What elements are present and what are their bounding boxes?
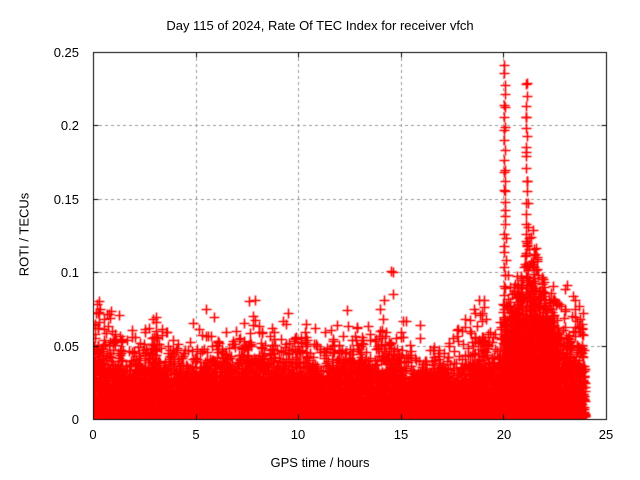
scatter-plot-canvas <box>0 0 640 480</box>
y-tick-label-0.25: 0.25 <box>19 46 79 59</box>
y-tick-label-0.1: 0.1 <box>19 266 79 279</box>
x-tick-label-25: 25 <box>586 428 626 441</box>
chart-container: Day 115 of 2024, Rate Of TEC Index for r… <box>0 0 640 480</box>
y-tick-label-0.2: 0.2 <box>19 119 79 132</box>
x-tick-label-20: 20 <box>484 428 524 441</box>
y-tick-label-0.05: 0.05 <box>19 340 79 353</box>
chart-title: Day 115 of 2024, Rate Of TEC Index for r… <box>0 19 640 32</box>
x-tick-label-15: 15 <box>381 428 421 441</box>
y-tick-label-0.15: 0.15 <box>19 193 79 206</box>
x-tick-label-10: 10 <box>278 428 318 441</box>
x-axis-title: GPS time / hours <box>0 456 640 469</box>
x-tick-label-0: 0 <box>73 428 113 441</box>
y-tick-label-0: 0 <box>19 413 79 426</box>
x-tick-label-5: 5 <box>176 428 216 441</box>
